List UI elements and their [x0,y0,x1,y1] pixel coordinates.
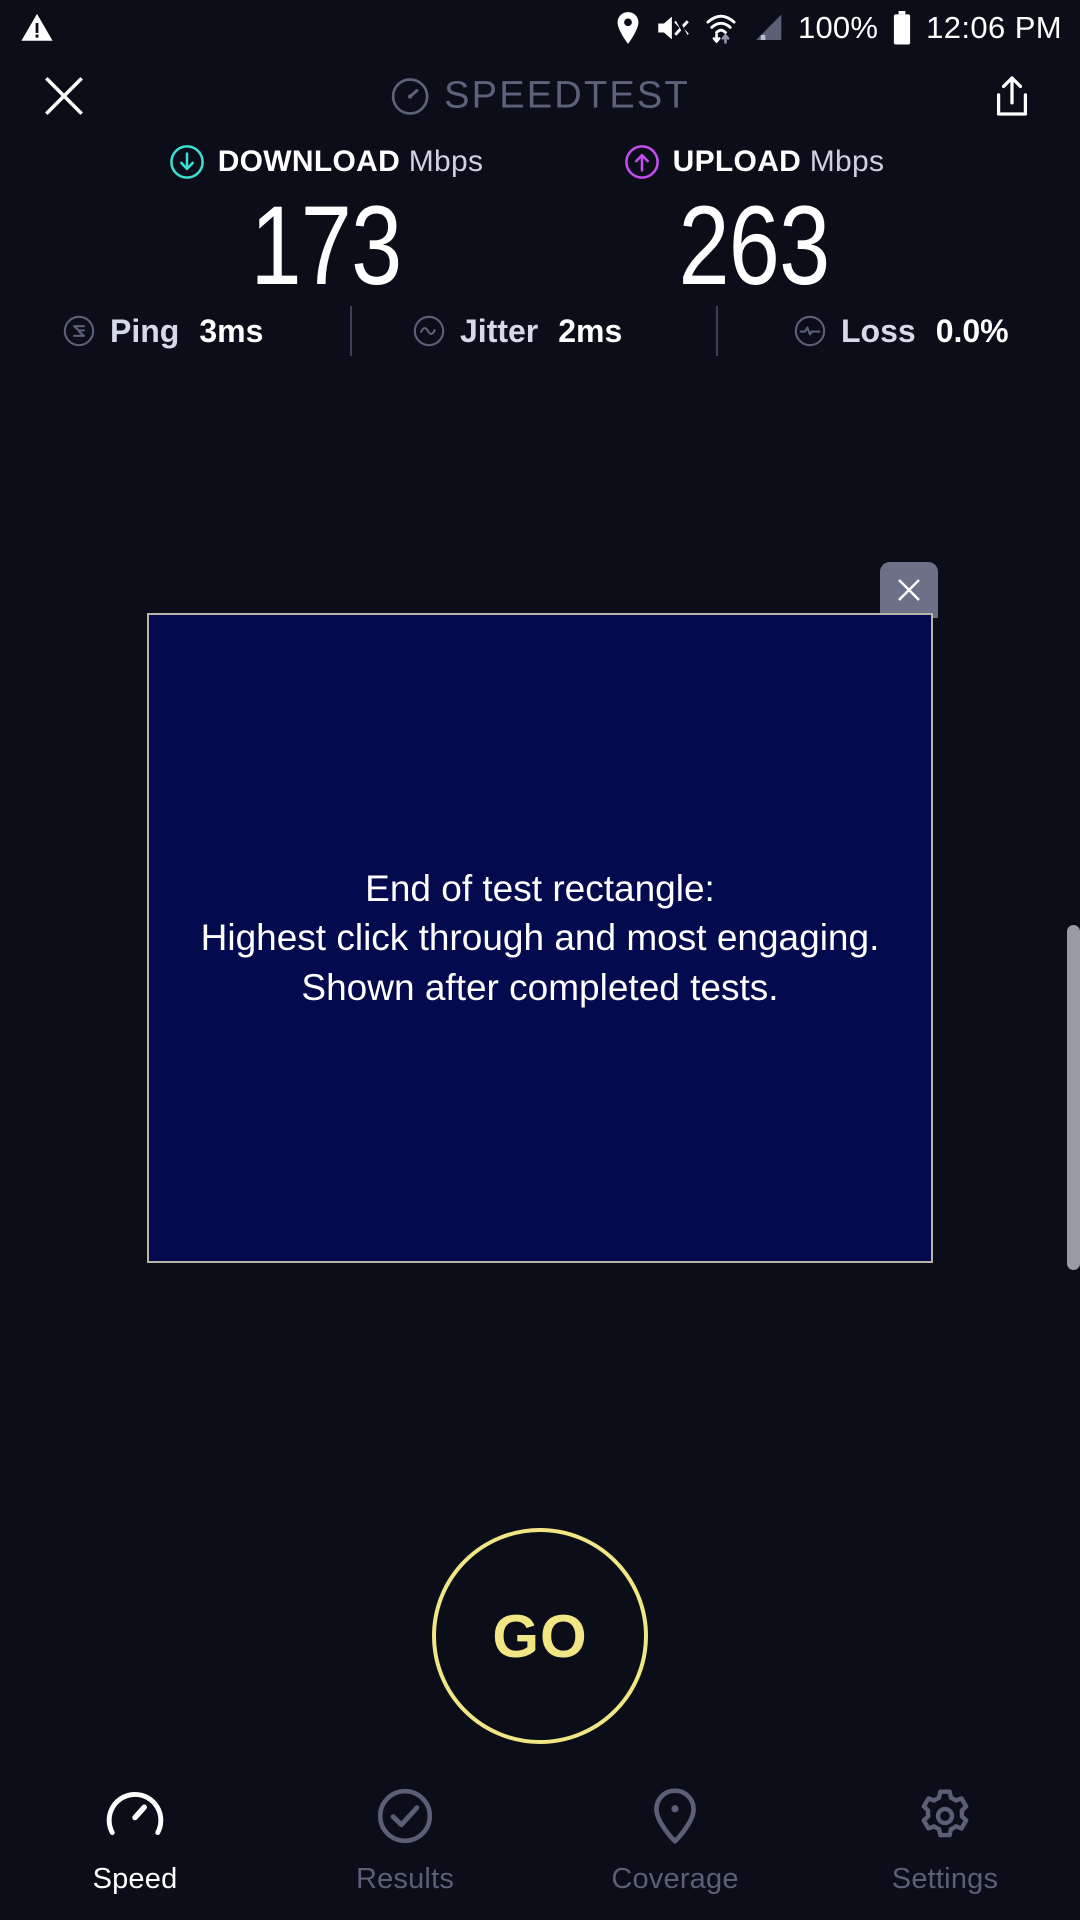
speedometer-icon [104,1785,166,1847]
network-metrics-row: Ping 3ms Jitter 2ms Los [0,300,1080,362]
share-button[interactable] [986,70,1038,122]
cell-signal-icon [752,12,784,44]
bottom-navigation: Speed Results Coverage [0,1760,1080,1920]
app-title: SPEEDTEST [390,75,690,118]
jitter-value: 2ms [558,313,622,350]
ad-line-3: Shown after completed tests. [201,963,880,1012]
nav-label-coverage: Coverage [611,1863,738,1896]
nav-item-coverage[interactable]: Coverage [540,1760,810,1920]
upload-result: UPLOAD Mbps 263 [544,140,964,302]
speedtest-app-screen: 100% 12:06 PM [0,0,1080,1920]
ad-line-1: End of test rectangle: [201,864,880,913]
close-icon [39,71,89,121]
metric-jitter: Jitter 2ms [412,313,622,350]
nav-label-results: Results [356,1863,454,1896]
battery-icon [892,11,912,45]
status-bar: 100% 12:06 PM [0,0,1080,56]
ad-line-2: Highest click through and most engaging. [201,913,880,962]
upload-value: 263 [679,190,830,302]
app-title-text: SPEEDTEST [444,75,690,118]
ping-icon [62,314,96,348]
go-button[interactable]: GO [432,1528,648,1744]
upload-header: UPLOAD Mbps [624,140,885,184]
ping-label: Ping [110,313,179,350]
location-pin-icon [644,1785,706,1847]
nav-item-results[interactable]: Results [270,1760,540,1920]
loss-icon [793,314,827,348]
metric-loss: Loss 0.0% [793,313,1009,350]
ping-value: 3ms [199,313,263,350]
download-header: DOWNLOAD Mbps [169,140,484,184]
nav-item-speed[interactable]: Speed [0,1760,270,1920]
gear-icon [914,1785,976,1847]
results-summary: DOWNLOAD Mbps 173 UP [0,140,1080,302]
speedometer-icon [390,76,430,116]
close-icon [893,574,925,606]
results-row: DOWNLOAD Mbps 173 UP [0,140,1080,302]
arrow-down-circle-icon [169,144,205,180]
clock-label: 12:06 PM [926,10,1062,46]
arrow-up-circle-icon [624,144,660,180]
close-button[interactable] [36,68,92,124]
download-label-text: DOWNLOAD [218,145,400,178]
nav-item-settings[interactable]: Settings [810,1760,1080,1920]
loss-value: 0.0% [936,313,1009,350]
wifi-transfer-icon [704,11,738,45]
download-value: 173 [251,190,402,302]
status-bar-right: 100% 12:06 PM [614,10,1062,46]
ad-close-button[interactable] [880,562,938,618]
metric-divider-2 [716,306,718,356]
download-label: DOWNLOAD Mbps [218,145,484,179]
warning-triangle-icon [20,11,54,45]
share-icon [989,73,1035,119]
nav-label-settings: Settings [892,1863,998,1896]
jitter-icon [412,314,446,348]
jitter-label: Jitter [460,313,538,350]
ad-text: End of test rectangle: Highest click thr… [191,864,890,1012]
upload-label: UPLOAD Mbps [673,145,885,179]
upload-label-text: UPLOAD [673,145,801,178]
status-bar-left [20,11,54,45]
upload-unit: Mbps [810,145,885,178]
location-pin-icon [614,11,642,45]
go-button-label: GO [492,1602,587,1671]
app-header: SPEEDTEST [0,56,1080,136]
download-unit: Mbps [409,145,484,178]
advertisement-banner[interactable]: End of test rectangle: Highest click thr… [147,613,933,1263]
battery-percent-label: 100% [798,10,878,46]
metric-divider-1 [350,306,352,356]
loss-label: Loss [841,313,916,350]
volume-mute-icon [656,13,690,43]
page-scrollbar[interactable] [1067,925,1080,1270]
check-circle-icon [374,1785,436,1847]
download-result: DOWNLOAD Mbps 173 [116,140,536,302]
nav-label-speed: Speed [93,1863,178,1896]
metric-ping: Ping 3ms [62,313,263,350]
